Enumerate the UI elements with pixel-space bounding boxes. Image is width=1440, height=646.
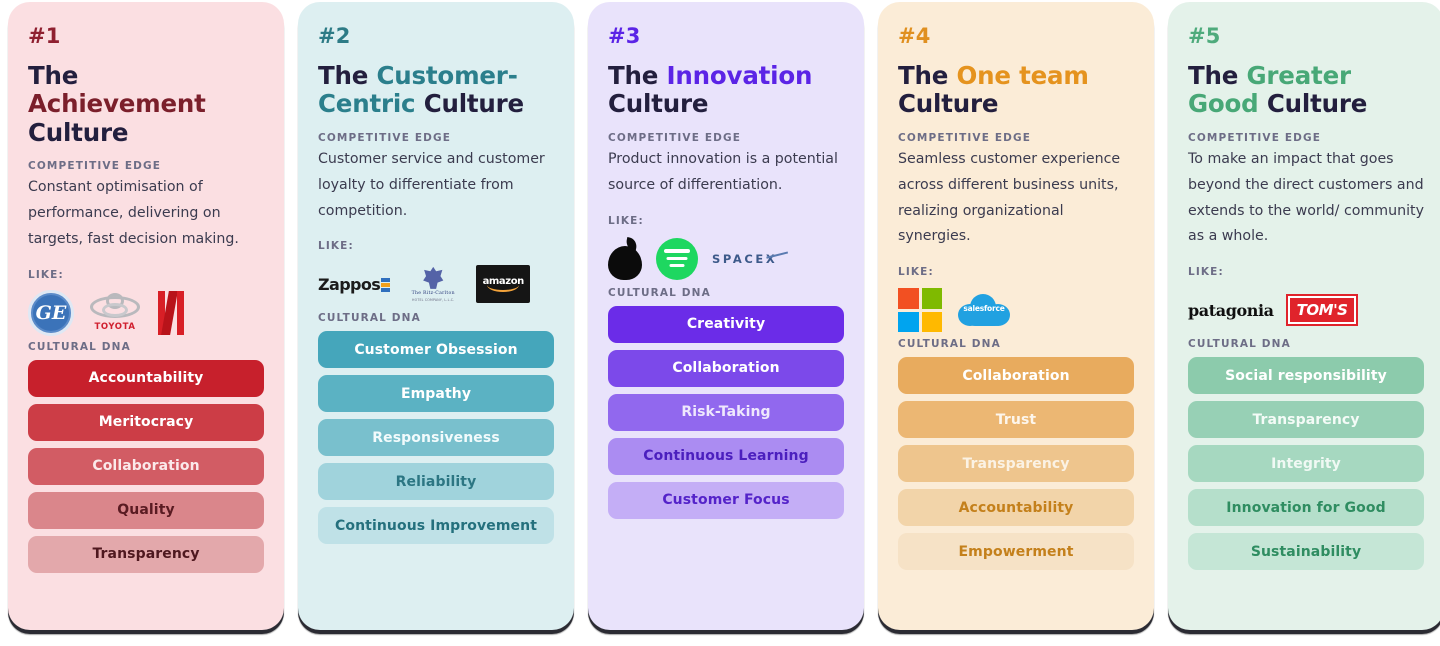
cultural-dna-list: Social responsibilityTransparencyIntegri… xyxy=(1188,357,1424,570)
toms-mark: TOM'S xyxy=(1288,296,1357,324)
card-title-tail: Culture xyxy=(28,118,128,147)
toyota-wordmark: TOYOTA xyxy=(94,322,135,332)
culture-card[interactable]: #1The Achievement CultureCOMPETITIVE EDG… xyxy=(8,2,284,630)
competitive-edge-text: Constant optimisation of performance, de… xyxy=(28,175,264,253)
cultural-dna-pill[interactable]: Transparency xyxy=(28,536,264,573)
cultural-dna-label: CULTURAL DNA xyxy=(318,312,554,324)
card-rank: #1 xyxy=(28,24,264,48)
card-title-lead: The xyxy=(1188,61,1247,90)
competitive-edge-text: Seamless customer experience across diff… xyxy=(898,147,1134,250)
like-label: LIKE: xyxy=(318,240,554,252)
like-label: LIKE: xyxy=(898,266,1134,278)
card-title-tail: Culture xyxy=(608,89,708,118)
cultural-dna-pill[interactable]: Meritocracy xyxy=(28,404,264,441)
card-title-lead: The xyxy=(28,61,78,90)
zappos-wordmark: Zappos xyxy=(318,275,380,294)
company-logos: patagoniaTOM'S xyxy=(1188,286,1424,334)
cultural-dna-pill[interactable]: Collaboration xyxy=(898,357,1134,394)
ritz-subtext: HOTEL COMPANY, L.L.C. xyxy=(412,298,454,302)
zappos-logo: Zappos xyxy=(318,275,390,294)
cultural-dna-label: CULTURAL DNA xyxy=(898,338,1134,350)
cultural-dna-pill[interactable]: Innovation for Good xyxy=(1188,489,1424,526)
patagonia-wordmark: patagonia xyxy=(1188,301,1274,320)
cultural-dna-label: CULTURAL DNA xyxy=(608,287,844,299)
card-rank: #4 xyxy=(898,24,1134,48)
netflix-mark xyxy=(156,291,186,335)
cultural-dna-pill[interactable]: Sustainability xyxy=(1188,533,1424,570)
card-title-tail: Culture xyxy=(1259,89,1368,118)
cultural-dna-pill[interactable]: Transparency xyxy=(1188,401,1424,438)
card-rank: #3 xyxy=(608,24,844,48)
spotify-logo xyxy=(656,238,698,280)
culture-card[interactable]: #4The One team CultureCOMPETITIVE EDGESe… xyxy=(878,2,1154,630)
competitive-edge-label: COMPETITIVE EDGE xyxy=(608,132,844,144)
like-label: LIKE: xyxy=(608,215,844,227)
competitive-edge-label: COMPETITIVE EDGE xyxy=(898,132,1134,144)
salesforce-logo: salesforce xyxy=(956,292,1012,328)
spacex-logo: SPACEX xyxy=(712,252,777,266)
patagonia-logo: patagonia xyxy=(1188,301,1274,320)
cultural-dna-pill[interactable]: Continuous Improvement xyxy=(318,507,554,544)
cultural-dna-pill[interactable]: Customer Focus xyxy=(608,482,844,519)
card-title: The Greater Good Culture xyxy=(1188,62,1424,119)
company-logos: salesforce xyxy=(898,286,1134,334)
salesforce-mark: salesforce xyxy=(956,292,1012,328)
competitive-edge-text: Customer service and customer loyalty to… xyxy=(318,147,554,225)
ritz-wordmark: The Ritz-Carlton xyxy=(412,291,455,296)
competitive-edge-label: COMPETITIVE EDGE xyxy=(28,160,264,172)
cultural-dna-pill[interactable]: Social responsibility xyxy=(1188,357,1424,394)
card-title-accent: Innovation xyxy=(667,61,813,90)
cultural-dna-pill[interactable]: Creativity xyxy=(608,306,844,343)
cultural-dna-pill[interactable]: Collaboration xyxy=(608,350,844,387)
card-title: The Customer-Centric Culture xyxy=(318,62,554,119)
zappos-bars xyxy=(381,278,390,294)
netflix-logo xyxy=(156,291,186,335)
card-title: The Innovation Culture xyxy=(608,62,844,119)
cultural-dna-pill[interactable]: Accountability xyxy=(28,360,264,397)
card-title-lead: The xyxy=(608,61,667,90)
amazon-mark: amazon xyxy=(476,265,530,303)
cultural-dna-pill[interactable]: Responsiveness xyxy=(318,419,554,456)
toyota-logo: TOYOTA xyxy=(88,293,142,332)
culture-card[interactable]: #5The Greater Good CultureCOMPETITIVE ED… xyxy=(1168,2,1440,630)
competitive-edge-label: COMPETITIVE EDGE xyxy=(318,132,554,144)
culture-card[interactable]: #3The Innovation CultureCOMPETITIVE EDGE… xyxy=(588,2,864,630)
apple-logo xyxy=(608,238,642,280)
like-label: LIKE: xyxy=(28,269,264,281)
card-title-lead: The xyxy=(898,61,957,90)
cultural-dna-pill[interactable]: Reliability xyxy=(318,463,554,500)
cultural-dna-pill[interactable]: Customer Obsession xyxy=(318,331,554,368)
competitive-edge-text: Product innovation is a potential source… xyxy=(608,147,844,199)
like-label: LIKE: xyxy=(1188,266,1424,278)
card-rank: #5 xyxy=(1188,24,1424,48)
ge-logo: GE xyxy=(28,290,74,336)
cultural-dna-pill[interactable]: Continuous Learning xyxy=(608,438,844,475)
spotify-mark xyxy=(656,238,698,280)
cultural-dna-pill[interactable]: Quality xyxy=(28,492,264,529)
cultural-dna-pill[interactable]: Accountability xyxy=(898,489,1134,526)
cultural-dna-pill[interactable]: Trust xyxy=(898,401,1134,438)
card-rank: #2 xyxy=(318,24,554,48)
cultural-dna-label: CULTURAL DNA xyxy=(1188,338,1424,350)
amazon-logo: amazon xyxy=(476,265,530,303)
card-title: The One team Culture xyxy=(898,62,1134,119)
ge-mark: GE xyxy=(28,290,74,336)
company-logos: SPACEX xyxy=(608,235,844,283)
culture-card[interactable]: #2The Customer-Centric CultureCOMPETITIV… xyxy=(298,2,574,630)
cultural-dna-pill[interactable]: Transparency xyxy=(898,445,1134,482)
toyota-mark xyxy=(90,293,140,321)
spacex-wordmark: SPACEX xyxy=(712,252,777,266)
cultural-dna-pill[interactable]: Risk-Taking xyxy=(608,394,844,431)
microsoft-mark xyxy=(898,288,942,332)
cultural-dna-pill[interactable]: Integrity xyxy=(1188,445,1424,482)
card-title-tail: Culture xyxy=(898,89,998,118)
culture-cards-board: #1The Achievement CultureCOMPETITIVE EDG… xyxy=(0,0,1440,646)
toms-logo: TOM'S xyxy=(1288,296,1357,324)
company-logos: ZapposThe Ritz-CarltonHOTEL COMPANY, L.L… xyxy=(318,260,554,308)
ritz-carlton-logo: The Ritz-CarltonHOTEL COMPANY, L.L.C. xyxy=(404,267,462,302)
apple-mark xyxy=(608,238,642,280)
cultural-dna-pill[interactable]: Empowerment xyxy=(898,533,1134,570)
cultural-dna-pill[interactable]: Collaboration xyxy=(28,448,264,485)
cultural-dna-list: AccountabilityMeritocracyCollaborationQu… xyxy=(28,360,264,573)
card-title-accent: Achievement xyxy=(28,89,206,118)
cultural-dna-list: Customer ObsessionEmpathyResponsivenessR… xyxy=(318,331,554,544)
card-title-lead: The xyxy=(318,61,377,90)
competitive-edge-text: To make an impact that goes beyond the d… xyxy=(1188,147,1424,250)
cultural-dna-pill[interactable]: Empathy xyxy=(318,375,554,412)
card-title-accent: One team xyxy=(957,61,1089,90)
microsoft-logo xyxy=(898,288,942,332)
card-title: The Achievement Culture xyxy=(28,62,264,147)
cultural-dna-list: CreativityCollaborationRisk-TakingContin… xyxy=(608,306,844,519)
company-logos: GETOYOTA xyxy=(28,289,264,337)
cultural-dna-label: CULTURAL DNA xyxy=(28,341,264,353)
competitive-edge-label: COMPETITIVE EDGE xyxy=(1188,132,1424,144)
ritz-lion-crown xyxy=(421,267,445,289)
cultural-dna-list: CollaborationTrustTransparencyAccountabi… xyxy=(898,357,1134,570)
card-title-tail: Culture xyxy=(415,89,524,118)
